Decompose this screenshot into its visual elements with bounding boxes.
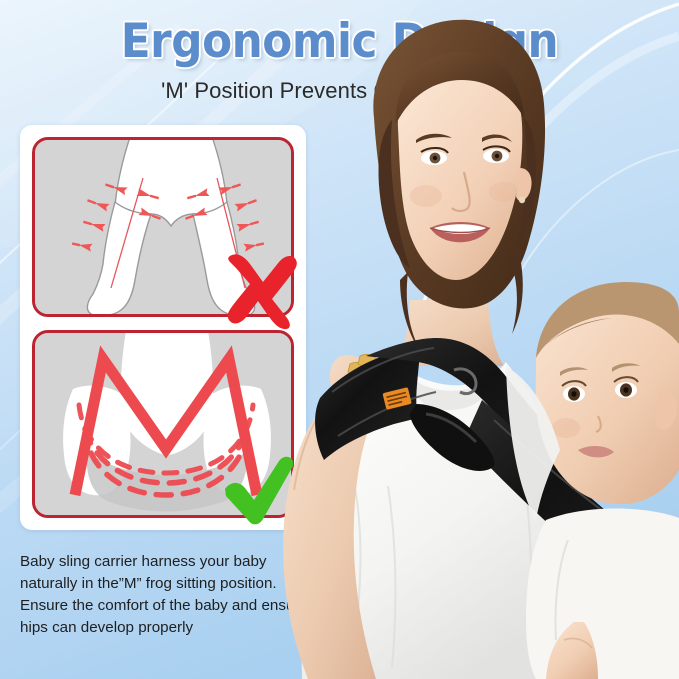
panel-o-shaped-legs [32,137,294,317]
panel-bad-inner [35,140,291,314]
lifestyle-photo-woman-with-baby [268,0,679,679]
product-marketing-poster: Ergonomic Design 'M' Position Prevents O… [0,0,679,679]
earring [519,197,525,203]
diagram-card [20,125,306,530]
baby-clothing [526,509,679,679]
panel-m-position [32,330,294,518]
panel-good-inner [35,333,291,515]
o-shaped-legs-illustration [35,140,291,314]
m-position-illustration [35,333,291,515]
